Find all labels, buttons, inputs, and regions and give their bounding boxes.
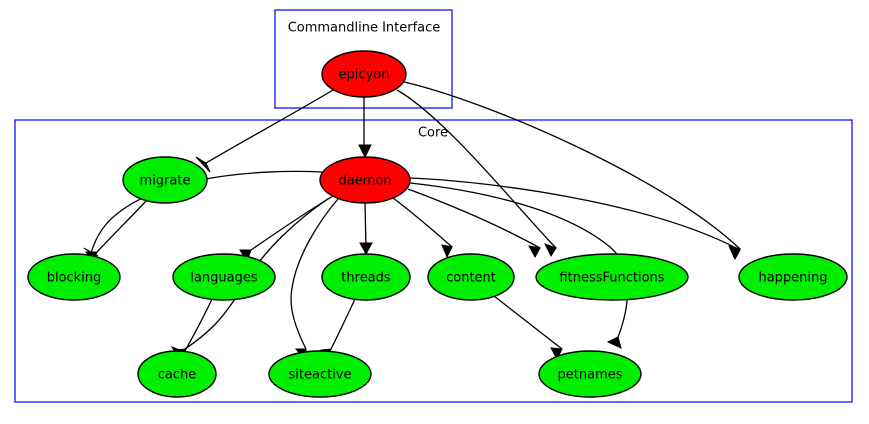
arrowhead-icon [442,245,452,257]
edge-daemon-to-content [392,197,452,257]
edge-line [410,178,740,250]
arrowhead-icon [529,246,540,257]
edge-epicyon-to-migrate [196,90,333,172]
arrowhead-icon [730,248,740,259]
node-label-daemon: daemon [338,174,391,189]
edge-line [408,189,540,248]
node-label-cache: cache [158,368,197,383]
node-label-migrate: migrate [140,174,191,189]
edge-epicyon-to-happening [404,82,740,257]
edge-line [392,197,452,247]
node-petnames[interactable]: petnames [539,351,641,397]
cluster-label-cli: Commandline Interface [288,21,441,36]
node-content[interactable]: content [428,254,514,300]
edge-epicyon-to-daemon [359,97,371,157]
edge-epicyon-to-fitnessFunctions [397,90,556,256]
node-label-siteactive: siteactive [289,368,352,383]
node-daemon[interactable]: daemon [320,157,410,203]
node-label-threads: threads [341,271,391,286]
edge-daemon-to-threads [360,203,372,254]
node-fitnessFunctions[interactable]: fitnessFunctions [536,254,688,300]
edge-line [331,299,355,349]
node-label-happening: happening [758,271,827,286]
node-siteactive[interactable]: siteactive [269,351,371,397]
edge-line [186,299,212,349]
edge-daemon-to-fitnessFunctions [408,189,540,257]
node-happening[interactable]: happening [739,254,847,300]
node-blocking[interactable]: blocking [28,254,120,300]
edge-content-to-petnames [494,296,562,359]
node-languages[interactable]: languages [173,254,275,300]
arrowhead-icon [359,145,371,157]
edge-migrate-to-blocking [86,200,147,263]
node-label-content: content [446,271,496,286]
node-label-epicyon: epicyon [339,68,390,83]
node-threads[interactable]: threads [322,254,410,300]
node-label-petnames: petnames [558,368,623,383]
edge-line [206,90,333,163]
node-cache[interactable]: cache [138,351,216,397]
arrowhead-icon [360,243,372,254]
node-label-languages: languages [190,271,258,286]
dependency-graph: Commandline InterfaceCore epicyondaemonm… [0,0,869,424]
diagram-canvas: Commandline InterfaceCore epicyondaemonm… [0,0,869,424]
edge-layer [84,82,740,361]
node-label-blocking: blocking [47,271,102,286]
node-migrate[interactable]: migrate [123,157,207,203]
node-label-fitnessFunctions: fitnessFunctions [559,271,664,286]
arrowhead-icon [608,337,621,348]
node-epicyon[interactable]: epicyon [322,51,406,97]
edge-line [397,90,556,248]
node-layer: epicyondaemonmigrateblockinglanguagesthr… [28,51,847,397]
edge-line [494,296,562,349]
edge-line [365,203,366,248]
